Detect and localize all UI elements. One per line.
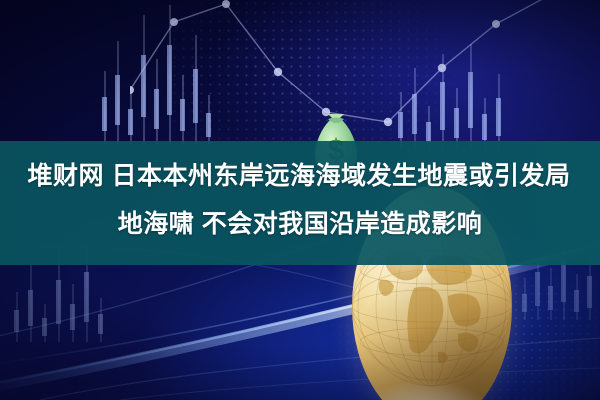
headline-text: 堆财网 日本本州东岸远海海域发生地震或引发局 地海啸 不会对我国沿岸造成影响 xyxy=(0,152,600,248)
headline-line-1: 堆财网 日本本州东岸远海海域发生地震或引发局 xyxy=(0,152,600,200)
headline-line-2: 地海啸 不会对我国沿岸造成影响 xyxy=(0,200,600,248)
banner-image: $ xyxy=(0,0,600,400)
